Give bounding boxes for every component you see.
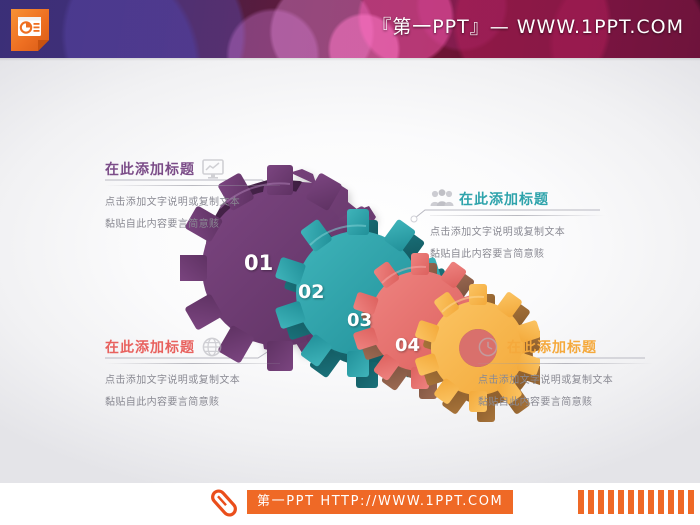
callout-bottom-right[interactable]: 在此添加标题 点击添加文字说明或复制文本 黏贴自此内容要言简意赅 [478,336,653,408]
gear-number-03: 03 [347,310,372,331]
callout-top-right[interactable]: 在此添加标题 点击添加文字说明或复制文本 黏贴自此内容要言简意赅 [430,188,605,260]
paperclip-icon [207,486,241,520]
callout-line-2: 黏贴自此内容要言简意赅 [430,245,605,260]
callout-top-left[interactable]: 在此添加标题 点击添加文字说明或复制文本 黏贴自此内容要言简意赅 [105,158,280,230]
callout-head: 在此添加标题 [105,336,280,358]
callout-line-1: 点击添加文字说明或复制文本 [105,193,280,208]
slide-body: 01 02 03 04 在此添加标题 点击添加文字说明或复制文本 [0,58,700,483]
callout-bottom-left[interactable]: 在此添加标题 点击添加文字说明或复制文本 黏贴自此内容要言简意赅 [105,336,280,408]
callout-line-1: 点击添加文字说明或复制文本 [105,371,280,386]
callout-head: 在此添加标题 [478,336,653,358]
callout-line-2: 黏贴自此内容要言简意赅 [478,393,653,408]
footer-stripes [578,490,694,514]
slide-canvas: 『第一PPT』— WWW.1PPT.COM [0,0,700,525]
people-group-icon [430,189,452,209]
callout-title: 在此添加标题 [459,189,549,209]
callout-divider [105,185,280,186]
callout-line-1: 点击添加文字说明或复制文本 [478,371,653,386]
monitor-chart-icon [202,159,224,179]
callout-line-2: 黏贴自此内容要言简意赅 [105,393,280,408]
callout-divider [478,363,653,364]
clock-icon [478,337,500,357]
callout-title: 在此添加标题 [105,337,195,357]
callout-title: 在此添加标题 [105,159,195,179]
powerpoint-icon [8,6,52,52]
gear-number-02: 02 [298,281,324,303]
callout-divider [105,363,280,364]
header-banner: 『第一PPT』— WWW.1PPT.COM [0,0,700,58]
callout-head: 在此添加标题 [430,188,605,210]
callout-line-1: 点击添加文字说明或复制文本 [430,223,605,238]
gear-number-04: 04 [395,335,420,356]
callout-head: 在此添加标题 [105,158,280,180]
gear-number-01: 01 [244,251,273,275]
callout-title: 在此添加标题 [507,337,597,357]
globe-icon [202,337,224,357]
callout-line-2: 黏贴自此内容要言简意赅 [105,215,280,230]
footer-url-label: 第一PPT HTTP://WWW.1PPT.COM [247,490,513,514]
callout-divider [430,215,605,216]
header-watermark: 『第一PPT』— WWW.1PPT.COM [372,12,684,39]
